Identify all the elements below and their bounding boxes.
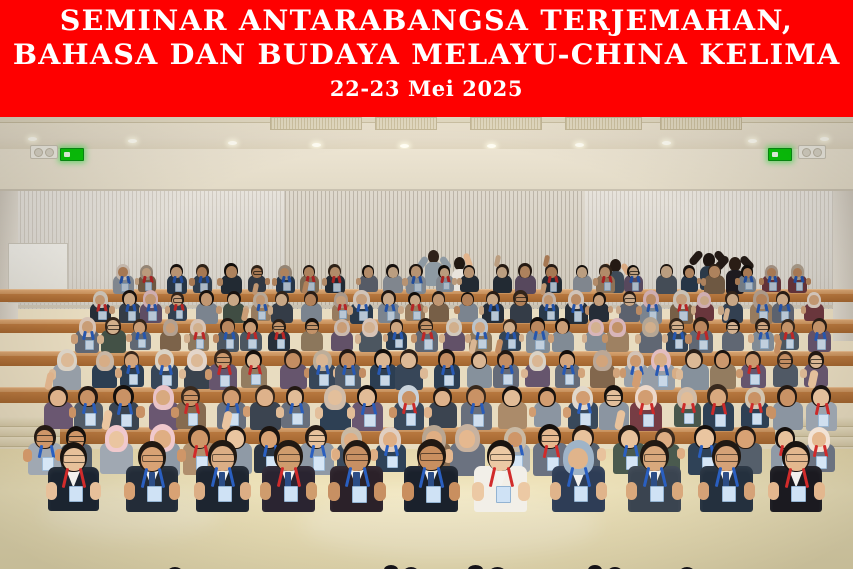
- ceiling-vent: [565, 117, 642, 130]
- exit-sign-left: [60, 148, 84, 161]
- ceiling-vent: [270, 117, 362, 130]
- seminar-title-line-2: BAHASA DAN BUDAYA MELAYU-CHINA KELIMA: [13, 41, 841, 69]
- ceiling-downlight: [28, 137, 37, 141]
- ceiling-downlight: [228, 141, 237, 145]
- ceiling-vent: [375, 117, 437, 130]
- exit-sign-right: [768, 148, 792, 161]
- upper-wall: [0, 149, 853, 193]
- ceiling-downlight: [662, 141, 671, 145]
- conference-group-photograph: [0, 117, 853, 569]
- ceiling-downlight: [400, 144, 409, 148]
- wall-speaker-right: [798, 145, 826, 159]
- seminar-title-line-1: SEMINAR ANTARABANGSA TERJEMAHAN,: [60, 7, 793, 35]
- shoe: [588, 565, 602, 569]
- title-banner: SEMINAR ANTARABANGSA TERJEMAHAN, BAHASA …: [0, 0, 853, 117]
- ceiling-downlight: [820, 137, 829, 141]
- ceiling-downlight: [312, 143, 321, 147]
- ceiling-downlight: [128, 139, 137, 143]
- seminar-date: 22-23 Mei 2025: [330, 78, 523, 99]
- shoe: [384, 565, 398, 569]
- ceiling-downlight: [487, 144, 496, 148]
- ceiling-downlight: [575, 143, 584, 147]
- ceiling-downlight: [748, 139, 757, 143]
- wall-speaker-left: [30, 145, 58, 159]
- seminar-group-photo-poster: SEMINAR ANTARABANGSA TERJEMAHAN, BAHASA …: [0, 0, 853, 569]
- ceiling-vent: [660, 117, 742, 130]
- ceiling-vent: [470, 117, 542, 130]
- shoe: [468, 565, 483, 569]
